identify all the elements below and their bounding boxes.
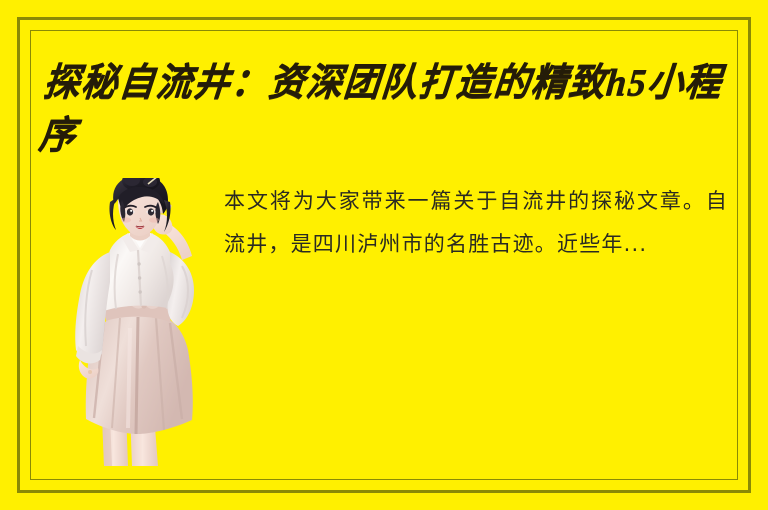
article-excerpt: 本文将为大家带来一篇关于自流井的探秘文章。自流井，是四川泸州市的名胜古迹。近些年…	[224, 180, 728, 266]
blouse	[103, 229, 176, 311]
anime-girl-illustration	[42, 178, 214, 466]
article-card: 探秘自流井：资深团队打造的精致h5小程序	[0, 0, 768, 510]
page-title: 探秘自流井：资深团队打造的精致h5小程序	[37, 56, 736, 162]
